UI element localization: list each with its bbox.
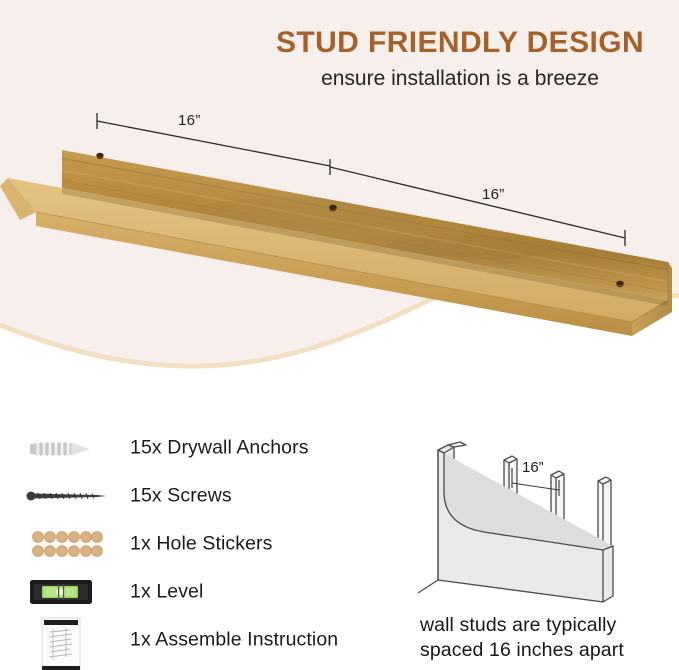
- mounting-hole-shadow: [96, 153, 103, 157]
- list-item-label: 15x Screws: [130, 485, 232, 508]
- screw-icon: [22, 472, 122, 520]
- list-item: 1x Assemble Instruction: [0, 616, 400, 664]
- list-item: 1x Hole Stickers: [0, 520, 400, 568]
- shelf-illustration: 16” 16”: [0, 0, 679, 420]
- hole-stickers-icon: [22, 520, 122, 568]
- instruction-icon: [22, 616, 122, 664]
- wall-stud-diagram: [408, 428, 679, 613]
- stud-diagram-caption: wall studs are typically spaced 16 inche…: [420, 613, 679, 663]
- mounting-hole-shadow: [616, 281, 624, 285]
- list-item-label: 1x Assemble Instruction: [130, 629, 338, 652]
- list-item-label: 1x Hole Stickers: [130, 533, 272, 556]
- list-item-label: 1x Level: [130, 581, 203, 604]
- stud-caption-line-2: spaced 16 inches apart: [420, 638, 679, 663]
- list-item: 15x Screws: [0, 472, 400, 520]
- shelf-dimension-label-right: 16”: [482, 186, 505, 203]
- dimension-line-a: [97, 113, 330, 166]
- level-icon: [22, 568, 122, 616]
- list-item-label: 15x Drywall Anchors: [130, 437, 309, 460]
- infographic-canvas: STUD FRIENDLY DESIGN ensure installation…: [0, 0, 679, 670]
- list-item: 1x Level: [0, 568, 400, 616]
- shelf-geometry: [0, 150, 679, 336]
- stud-spacing-label: 16”: [522, 459, 544, 476]
- mounting-hole-shadow: [329, 205, 337, 209]
- drywall-anchor-icon: [22, 424, 122, 472]
- shelf-dimension-label-left: 16”: [178, 112, 201, 129]
- stud-caption-line-1: wall studs are typically: [420, 613, 679, 638]
- list-item: 15x Drywall Anchors: [0, 424, 400, 472]
